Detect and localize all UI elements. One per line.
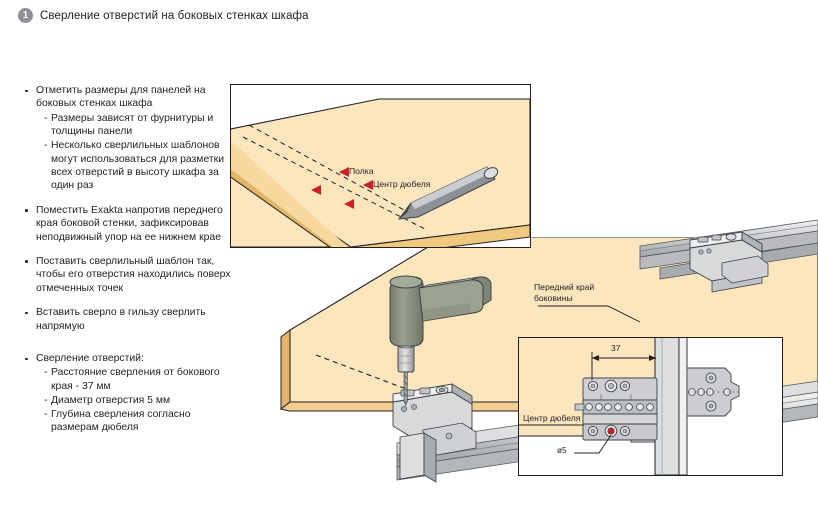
detail-vertical-post [655, 338, 679, 475]
side-panel-front-edge [281, 330, 290, 409]
bottom-inset-panel: 37 Центр дюбеля ø5 [518, 337, 783, 476]
drill-bit [404, 372, 407, 407]
dimension-37-label: 37 [611, 343, 621, 354]
shelf-label: Полка [349, 166, 374, 177]
hole-diameter-label: ø5 [557, 446, 567, 456]
detail-post-inner [679, 338, 687, 475]
top-inset-panel: Полка Центр дюбеля [230, 84, 531, 248]
front-edge-label-line1: Передний край [534, 282, 594, 293]
dowel-center-label: Центр дюбеля [373, 179, 430, 190]
illustration-page: 1 Сверление отверстий на боковых стенках… [0, 0, 818, 509]
detail-dowel-center-label: Центр дюбеля [523, 413, 580, 424]
front-edge-label-line2: боковины [534, 293, 594, 304]
front-edge-label: Передний край боковины [534, 282, 594, 303]
detail-hinge-plate [687, 368, 739, 416]
top-inset-artwork [231, 85, 530, 247]
detail-jig-plate [575, 378, 657, 440]
